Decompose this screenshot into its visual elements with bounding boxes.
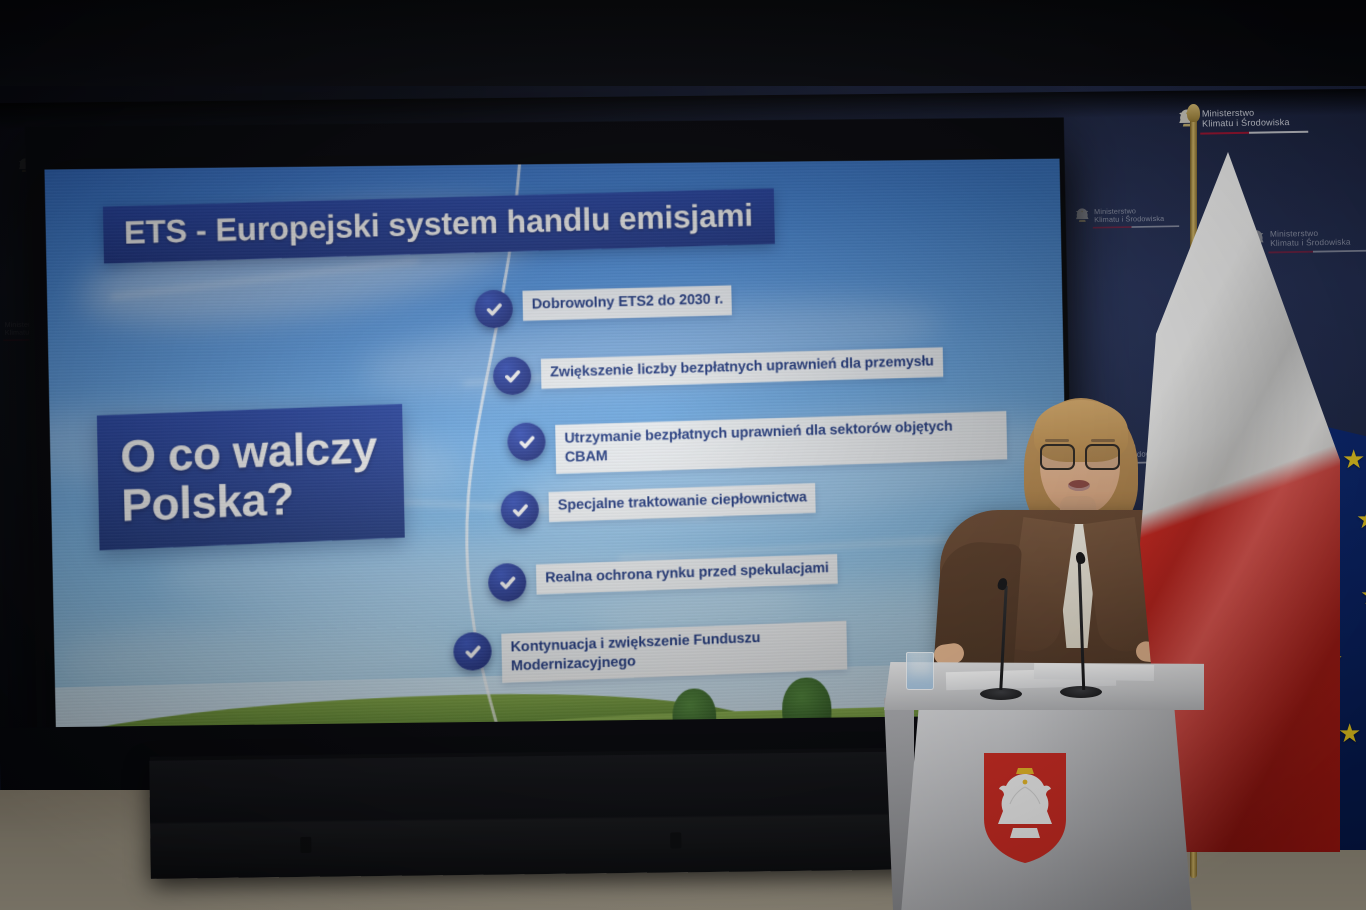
check-icon: [509, 499, 530, 520]
slide-bullet-item: Utrzymanie bezpłatnych uprawnień dla sek…: [507, 414, 1007, 473]
microphone-base: [1060, 686, 1102, 698]
slide-bullet-item: Realna ochrona rynku przed spekulacjami: [488, 556, 838, 602]
eu-star: ★: [1360, 582, 1366, 608]
check-circle-icon: [493, 357, 532, 396]
riser-foot: [300, 837, 311, 853]
check-circle-icon: [507, 422, 546, 461]
slide-bullet-item: Zwiększenie liczby bezpłatnych uprawnień…: [493, 350, 943, 396]
speaking-podium: [884, 640, 1204, 910]
slide-bullet-item: Dobrowolny ETS2 do 2030 r.: [474, 287, 732, 329]
slide-bullet-item: Specjalne traktowanie ciepłownictwa: [500, 485, 816, 530]
eyeglass-lens: [1085, 444, 1120, 470]
eyebrow: [1091, 439, 1115, 442]
check-circle-icon: [488, 563, 527, 602]
bullet-text: Realna ochrona rynku przed spekulacjami: [536, 554, 838, 595]
eyebrow: [1045, 439, 1069, 442]
stage-riser: [149, 751, 940, 879]
check-circle-icon: [453, 632, 492, 671]
eu-star: ★: [1342, 446, 1365, 472]
check-icon: [501, 365, 522, 386]
eyeglasses-icon: [1040, 444, 1120, 466]
bullet-text: Kontynuacja i zwiększenie Funduszu Moder…: [501, 621, 847, 683]
bullet-text: Specjalne traktowanie ciepłownictwa: [549, 483, 816, 522]
papers: [1034, 663, 1154, 681]
eu-star: ★: [1338, 720, 1361, 746]
bullet-text: Dobrowolny ETS2 do 2030 r.: [522, 285, 732, 321]
eyeglass-lens: [1040, 444, 1075, 470]
check-icon: [483, 298, 504, 319]
slide-bullet-item: Kontynuacja i zwiększenie Funduszu Moder…: [453, 623, 847, 682]
check-icon: [516, 431, 537, 452]
press-conference-photo: MinisterstwoKlimatu i ŚrodowiskaMinister…: [0, 0, 1366, 910]
eu-star: ★: [1356, 506, 1366, 532]
check-circle-icon: [474, 290, 513, 329]
check-circle-icon: [500, 491, 539, 530]
water-glass: [906, 652, 934, 690]
mouth: [1068, 480, 1090, 491]
polish-coat-of-arms: [980, 750, 1070, 866]
flag-pole-finial: [1187, 104, 1200, 122]
riser-foot: [670, 832, 681, 848]
bullet-text: Zwiększenie liczby bezpłatnych uprawnień…: [541, 347, 943, 389]
check-icon: [462, 641, 484, 663]
check-icon: [497, 572, 518, 594]
